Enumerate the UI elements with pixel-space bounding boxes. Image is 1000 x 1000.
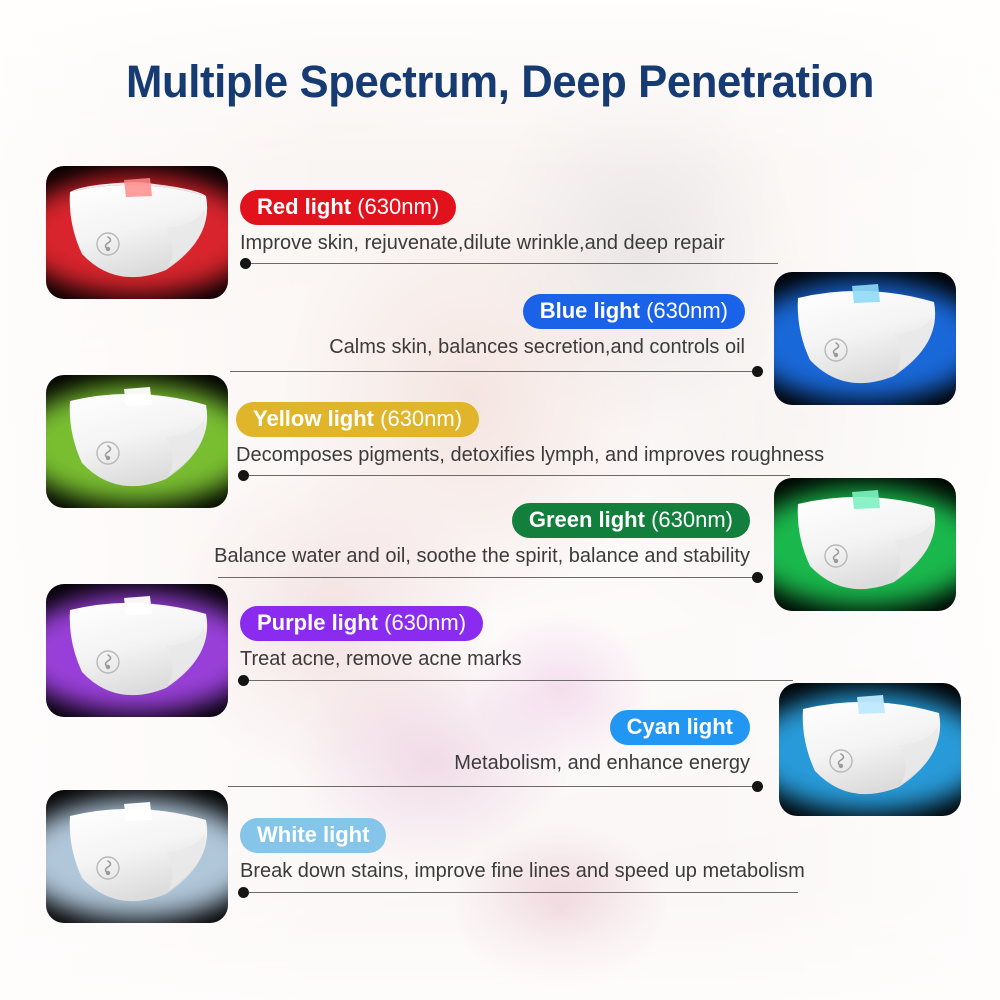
badge-wrap: Yellow light (630nm): [236, 402, 916, 437]
spectrum-row-yellow: Yellow light (630nm) Decomposes pigments…: [236, 402, 916, 467]
badge-wrap: Blue light (630nm): [230, 294, 745, 329]
badge-wrap: White light: [240, 818, 900, 853]
badge-wrap: Red light (630nm): [240, 190, 800, 225]
badge-white-light[interactable]: White light: [240, 818, 386, 853]
badge-label: Blue light: [540, 298, 640, 323]
product-thumbnail-purple: [46, 584, 228, 717]
spectrum-row-green: Green light (630nm) Balance water and oi…: [150, 503, 750, 568]
badge-wavelength: (630nm): [640, 298, 728, 323]
connector-line: [238, 892, 798, 893]
badge-yellow-light[interactable]: Yellow light (630nm): [236, 402, 479, 437]
badge-purple-light[interactable]: Purple light (630nm): [240, 606, 483, 641]
connector-line: [240, 263, 778, 264]
spectrum-row-purple: Purple light (630nm) Treat acne, remove …: [240, 606, 800, 671]
badge-label: White light: [257, 822, 369, 847]
led-mask-illustration: [46, 166, 228, 299]
led-mask-illustration: [774, 478, 956, 611]
mask-stage: [46, 584, 228, 717]
badge-label: Yellow light: [253, 406, 374, 431]
led-mask-illustration: [46, 790, 228, 923]
connector-line: [238, 475, 790, 476]
badge-wrap: Green light (630nm): [150, 503, 750, 538]
badge-red-light[interactable]: Red light (630nm): [240, 190, 456, 225]
description-blue: Calms skin, balances secretion,and contr…: [230, 335, 745, 359]
led-mask-illustration: [779, 683, 961, 816]
page-title: Multiple Spectrum, Deep Penetration: [15, 56, 985, 108]
mask-stage: [46, 790, 228, 923]
connector-green: [218, 572, 763, 584]
infographic-poster: Multiple Spectrum, Deep Penetration: [0, 0, 1000, 1000]
spectrum-row-cyan: Cyan light Metabolism, and enhance energ…: [330, 710, 750, 775]
badge-label: Green light: [529, 507, 645, 532]
badge-wrap: Cyan light: [330, 710, 750, 745]
mask-stage: [774, 272, 956, 405]
badge-wavelength: (630nm): [645, 507, 733, 532]
connector-yellow: [238, 470, 790, 482]
mask-stage: [46, 166, 228, 299]
connector-dot: [238, 470, 249, 481]
description-green: Balance water and oil, soothe the spirit…: [150, 544, 750, 568]
led-mask-illustration: [46, 375, 228, 508]
connector-dot: [752, 781, 763, 792]
connector-white: [238, 887, 798, 899]
description-red: Improve skin, rejuvenate,dilute wrinkle,…: [240, 231, 800, 255]
product-thumbnail-yellow: [46, 375, 228, 508]
spectrum-row-red: Red light (630nm) Improve skin, rejuvena…: [240, 190, 800, 255]
badge-blue-light[interactable]: Blue light (630nm): [523, 294, 745, 329]
connector-blue: [230, 366, 763, 378]
badge-label: Cyan light: [627, 714, 733, 739]
badge-green-light[interactable]: Green light (630nm): [512, 503, 750, 538]
spectrum-row-white: White light Break down stains, improve f…: [240, 818, 900, 883]
connector-dot: [240, 258, 251, 269]
connector-line: [218, 577, 763, 578]
badge-wavelength: (630nm): [374, 406, 462, 431]
description-yellow: Decomposes pigments, detoxifies lymph, a…: [236, 443, 916, 467]
led-mask-illustration: [774, 272, 956, 405]
connector-red: [240, 258, 778, 270]
description-purple: Treat acne, remove acne marks: [240, 647, 800, 671]
connector-line: [238, 680, 793, 681]
connector-line: [228, 786, 763, 787]
connector-dot: [238, 675, 249, 686]
product-thumbnail-green: [774, 478, 956, 611]
connector-dot: [238, 887, 249, 898]
badge-wrap: Purple light (630nm): [240, 606, 800, 641]
description-cyan: Metabolism, and enhance energy: [330, 751, 750, 775]
badge-label: Red light: [257, 194, 351, 219]
mask-stage: [46, 375, 228, 508]
badge-cyan-light[interactable]: Cyan light: [610, 710, 750, 745]
product-thumbnail-white: [46, 790, 228, 923]
mask-stage: [779, 683, 961, 816]
spectrum-row-blue: Blue light (630nm) Calms skin, balances …: [230, 294, 745, 359]
product-thumbnail-blue: [774, 272, 956, 405]
connector-dot: [752, 366, 763, 377]
badge-wavelength: (630nm): [351, 194, 439, 219]
product-thumbnail-red: [46, 166, 228, 299]
badge-label: Purple light: [257, 610, 378, 635]
product-thumbnail-cyan: [779, 683, 961, 816]
connector-purple: [238, 675, 793, 687]
mask-stage: [774, 478, 956, 611]
description-white: Break down stains, improve fine lines an…: [240, 859, 900, 883]
connector-cyan: [228, 781, 763, 793]
connector-line: [230, 371, 763, 372]
connector-dot: [752, 572, 763, 583]
led-mask-illustration: [46, 584, 228, 717]
badge-wavelength: (630nm): [378, 610, 466, 635]
